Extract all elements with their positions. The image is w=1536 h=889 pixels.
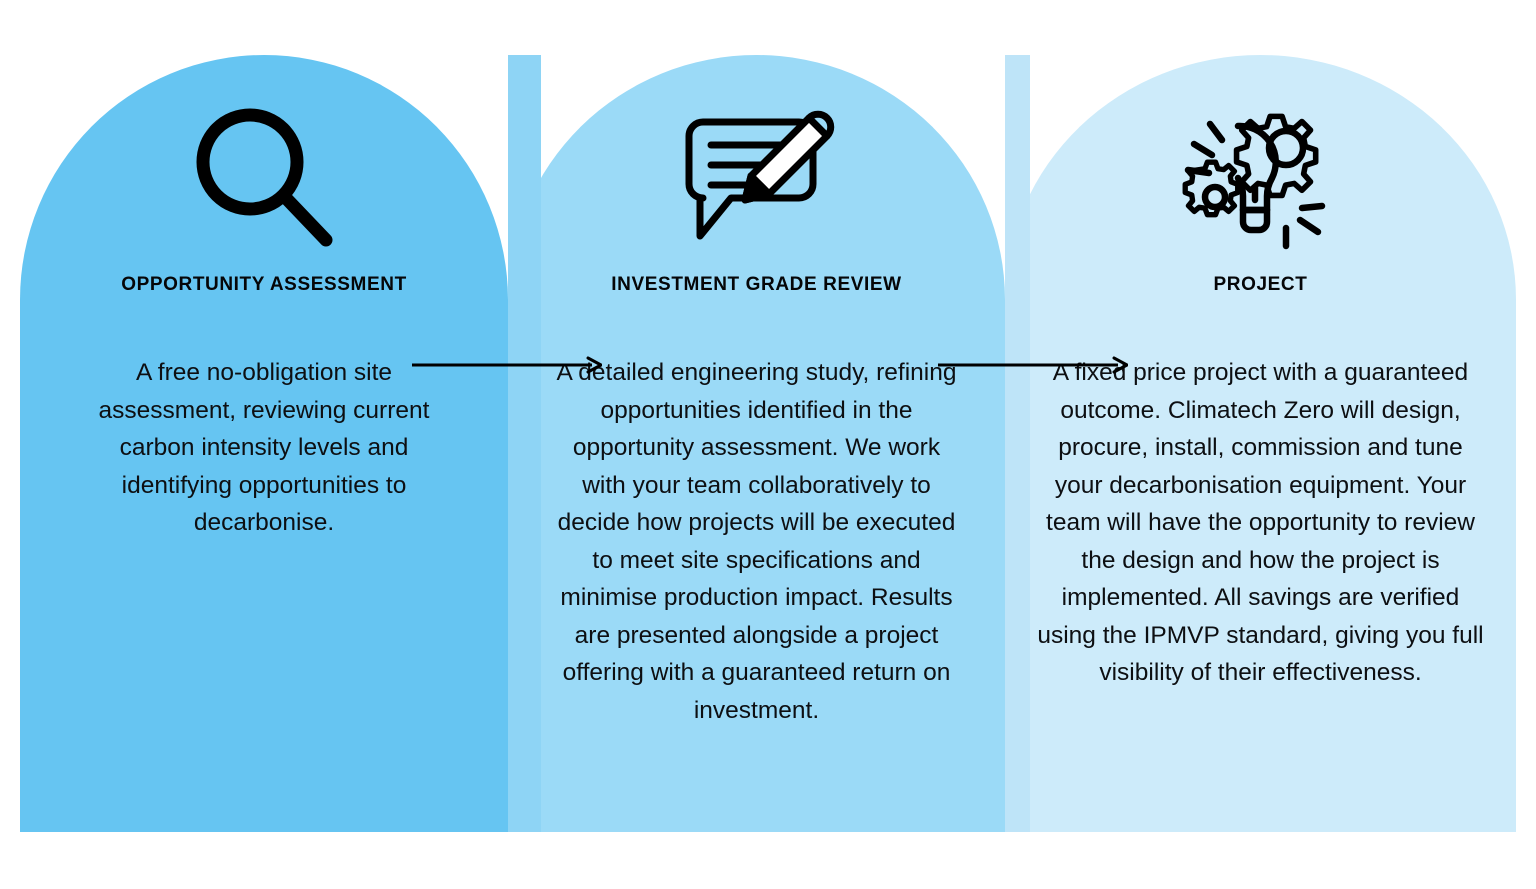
panel-content-2: INVESTMENT GRADE REVIEW A detailed engin…	[508, 55, 1005, 832]
panel-content-1: OPPORTUNITY ASSESSMENT A free no-obligat…	[20, 55, 508, 832]
process-flow-infographic: OPPORTUNITY ASSESSMENT A free no-obligat…	[0, 0, 1536, 889]
panel-content-3: PROJECT A fixed price project with a gua…	[1005, 55, 1516, 832]
connector-arrow-1	[412, 355, 602, 375]
step-panel-project: PROJECT A fixed price project with a gua…	[1005, 55, 1516, 832]
panel-body-3: A fixed price project with a guaranteed …	[1033, 354, 1488, 692]
panel-title-1: OPPORTUNITY ASSESSMENT	[121, 274, 407, 296]
panel-body-1: A free no-obligation site assessment, re…	[89, 354, 439, 542]
magnifying-glass-icon	[184, 100, 344, 260]
speech-bubble-pencil-icon	[667, 100, 847, 260]
lightbulb-gears-icon	[1176, 100, 1346, 260]
panel-title-2: INVESTMENT GRADE REVIEW	[611, 274, 901, 296]
connector-arrow-2	[938, 355, 1128, 375]
panel-title-3: PROJECT	[1214, 274, 1308, 296]
step-panel-investment-grade-review: INVESTMENT GRADE REVIEW A detailed engin…	[508, 55, 1005, 832]
panel-body-2: A detailed engineering study, refining o…	[557, 354, 957, 729]
step-panel-opportunity-assessment: OPPORTUNITY ASSESSMENT A free no-obligat…	[20, 55, 508, 832]
